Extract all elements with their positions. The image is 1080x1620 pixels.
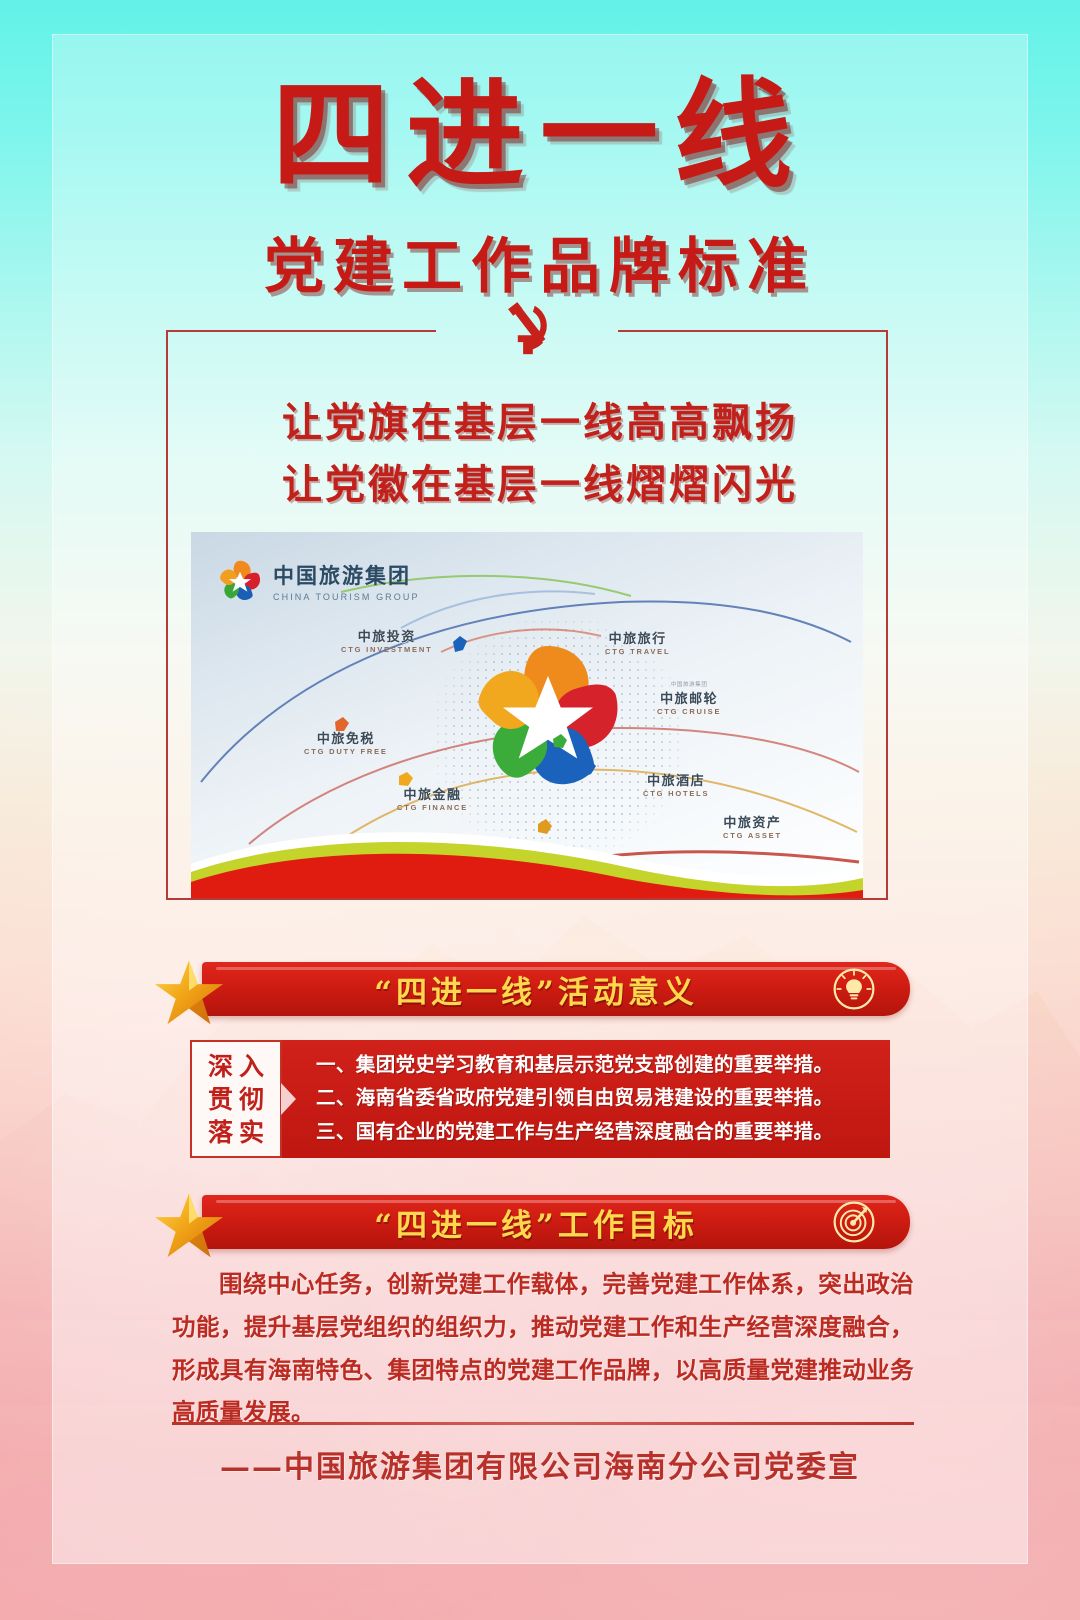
banner-title-goal: “四进一线”工作目标 [374,1200,698,1245]
target-dart-icon [832,1200,876,1244]
ctg-node-label-cn: 中旅免税 [304,728,388,747]
gold-star-icon [150,1189,228,1263]
page-title: 四进一线 [0,76,1080,194]
party-hammer-sickle-emblem-icon [496,298,558,360]
footer-signature: ——中国旅游集团有限公司海南分公司党委宣 [0,1442,1080,1486]
label-line-1: 深入 [202,1050,270,1083]
footer-divider [172,1422,914,1425]
ctg-node-hotels: 中旅酒店 CTG HOTELS [643,770,709,798]
gold-star-icon [150,956,228,1030]
banner-significance: “四进一线”活动意义 [202,962,910,1016]
title-block: 四进一线 党建工作品牌标准 [0,76,1080,305]
ctg-node-label-cn: 中旅旅行 [605,628,670,647]
ctg-node-investment: 中旅投资 CTG INVESTMENT [341,626,432,654]
slogan-block: 让党旗在基层一线高高飘扬 让党徽在基层一线熠熠闪光 [0,392,1080,516]
ctg-node-label-cn: 中旅投资 [341,626,432,645]
page-subtitle: 党建工作品牌标准 [0,218,1080,305]
banner-title-significance: “四进一线”活动意义 [374,967,698,1012]
section-significance: “四进一线”活动意义 [150,952,910,1022]
ctg-node-label-en: CTG CRUISE [657,707,721,716]
section-goal: “四进一线”工作目标 [150,1185,910,1255]
significance-list-card: 深入 贯彻 落实 一、集团党史学习教育和基层示范党支部创建的重要举措。 二、海南… [190,1040,890,1158]
ctg-node-label-cn: 中旅金融 [397,784,468,803]
ctg-node-label-cn: 中旅酒店 [643,770,709,789]
label-box-deep-implement: 深入 贯彻 落实 [190,1040,282,1158]
banner-row-significance: “四进一线”活动意义 [150,952,910,1022]
ribbon-wave [191,804,863,898]
slogan-line-1: 让党旗在基层一线高高飘扬 [0,392,1080,454]
slogan-line-2: 让党徽在基层一线熠熠闪光 [0,454,1080,516]
label-line-2: 贯彻 [202,1083,270,1116]
ctg-node-duty-free: 中旅免税 CTG DUTY FREE [304,728,388,756]
ctg-node-label-en: CTG INVESTMENT [341,645,432,654]
label-line-3: 落实 [202,1116,270,1149]
goal-paragraph: 围绕中心任务，创新党建工作载体，完善党建工作体系，突出政治功能，提升基层党组织的… [172,1263,914,1434]
lightbulb-icon [832,967,876,1011]
ctg-node-label-tiny: 中国旅游集团 [657,680,721,688]
ctg-brand-diagram: 中国旅游集团 CHINA TOURISM GROUP [191,532,863,898]
ctg-node-label-cn: 中旅邮轮 [657,688,721,707]
ctg-node-label-en: CTG HOTELS [643,789,709,798]
ctg-node-cruise: 中国旅游集团 中旅邮轮 CTG CRUISE [657,680,721,716]
list-item: 一、集团党史学习教育和基层示范党支部创建的重要举措。 [316,1050,874,1082]
ctg-node-label-en: CTG DUTY FREE [304,747,388,756]
list-item: 二、海南省委省政府党建引领自由贸易港建设的重要举措。 [316,1083,874,1115]
banner-row-goal: “四进一线”工作目标 [150,1185,910,1255]
poster-root: 四进一线 党建工作品牌标准 让党旗在基层一线高高飘扬 让党徽在基层一线熠熠闪光 [0,0,1080,1620]
ctg-node-travel: 中旅旅行 CTG TRAVEL [605,628,670,656]
ctg-node-label-en: CTG TRAVEL [605,647,670,656]
list-item: 三、国有企业的党建工作与生产经营深度融合的重要举措。 [316,1117,874,1149]
significance-list: 一、集团党史学习教育和基层示范党支部创建的重要举措。 二、海南省委省政府党建引领… [282,1040,890,1158]
banner-goal: “四进一线”工作目标 [202,1195,910,1249]
